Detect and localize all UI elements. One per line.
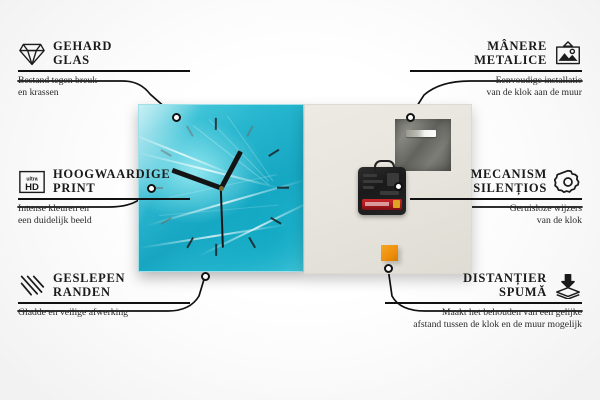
foam-spacer <box>381 245 398 261</box>
diamond-icon <box>18 41 46 67</box>
picture-frame-icon <box>554 41 582 67</box>
dot-mecanism-silentios <box>394 182 403 191</box>
clock-center-hub <box>219 186 224 191</box>
callout-title: GEHARD GLAS <box>53 40 112 67</box>
callout-rule <box>18 198 190 200</box>
callout-manere-metalice: MÂNERE METALICE Eenvoudige installatie v… <box>410 40 582 99</box>
callout-geslepen-randen: GESLEPEN RANDEN Gladde en veilige afwerk… <box>18 272 190 319</box>
dot-geslepen-randen <box>201 272 210 281</box>
callout-rule <box>18 70 190 72</box>
callout-description: Eenvoudige installatie van de klok aan d… <box>410 75 582 99</box>
beveled-edges-icon <box>18 273 46 299</box>
dot-gehard-glas <box>172 113 181 122</box>
callout-rule <box>18 302 190 304</box>
ultra-hd-icon: ultra HD <box>18 169 46 195</box>
infographic-canvas: GEHARD GLAS Bestand tegen breuk en krass… <box>0 0 600 400</box>
hanger-slot <box>406 130 436 137</box>
dot-distantier-spuma <box>384 264 393 273</box>
quartz-mechanism <box>358 167 406 215</box>
callout-rule <box>410 70 582 72</box>
gear-icon <box>554 169 582 195</box>
callout-description: Intense kleuren en een duidelijk beeld <box>18 203 190 227</box>
callout-title: DISTANȚIER SPUMĂ <box>463 272 547 299</box>
callout-description: Maakt het behouden van een gelijke afsta… <box>385 307 582 331</box>
callout-gehard-glas: GEHARD GLAS Bestand tegen breuk en krass… <box>18 40 190 99</box>
hanger-plate <box>395 119 451 171</box>
callout-title: MECANISM SILENȚIOS <box>471 168 547 195</box>
dot-hoogwaardige-print <box>147 184 156 193</box>
callout-description: Bestand tegen breuk en krassen <box>18 75 190 99</box>
battery <box>362 199 402 210</box>
callout-rule <box>385 302 582 304</box>
callout-title: GESLEPEN RANDEN <box>53 272 125 299</box>
callout-title: MÂNERE METALICE <box>474 40 547 67</box>
callout-description: Gladde en veilige afwerking <box>18 307 190 319</box>
callout-mecanism-silentios: MECANISM SILENȚIOS Geruisloze wijzers va… <box>410 168 582 227</box>
callout-rule <box>410 198 582 200</box>
callout-description: Geruisloze wijzers van de klok <box>410 203 582 227</box>
spacer-arrow-icon <box>554 273 582 299</box>
callout-hoogwaardige-print: ultra HD HOOGWAARDIGE PRINT Intense kleu… <box>18 168 190 227</box>
svg-text:HD: HD <box>25 181 39 192</box>
clock-second-hand <box>220 188 224 248</box>
callout-distantier-spuma: DISTANȚIER SPUMĂ Maakt het behouden van … <box>385 272 582 331</box>
mechanism-hook <box>374 160 395 173</box>
dot-manere-metalice <box>406 113 415 122</box>
